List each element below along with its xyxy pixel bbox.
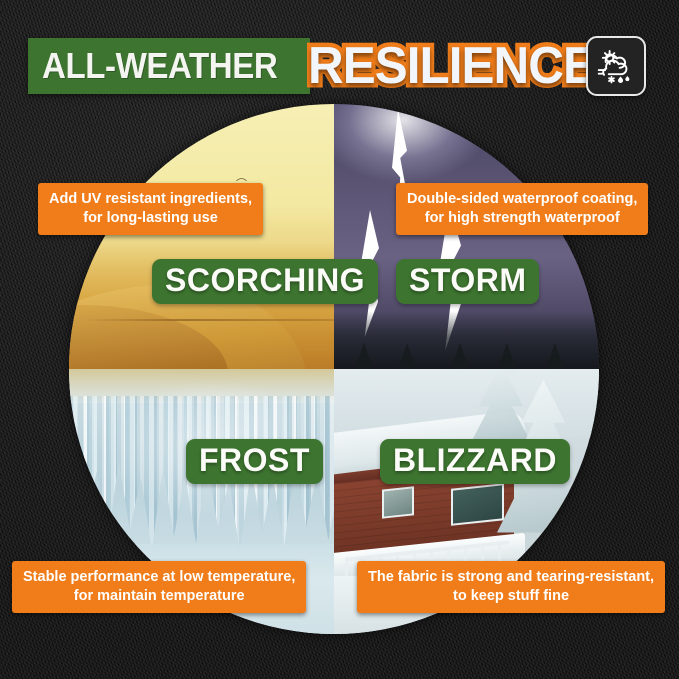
quadrant-scorching: ︵ — [69, 104, 334, 369]
quadrant-storm — [334, 104, 599, 369]
poster-canvas: ︵ — [0, 0, 679, 679]
callout-line-1: Double-sided waterproof coating, — [407, 191, 637, 207]
title-primary-text: ALL-WEATHER — [42, 45, 277, 87]
zone-label-blizzard: BLIZZARD — [380, 439, 570, 484]
title-primary-bar: ALL-WEATHER — [28, 38, 310, 94]
zone-label-scorching: SCORCHING — [152, 259, 378, 304]
desert-scene: ︵ — [69, 104, 334, 369]
title-secondary-text: RESILIENCE — [308, 36, 595, 96]
callout-line-1: Stable performance at low temperature, — [23, 569, 295, 585]
title-secondary-wrap: RESILIENCE — [308, 38, 616, 94]
callout-uv-resistant: Add UV resistant ingredients, for long-l… — [38, 183, 263, 235]
storm-scene — [334, 104, 599, 369]
callout-line-2: for maintain temperature — [23, 587, 295, 606]
callout-line-1: The fabric is strong and tearing-resista… — [368, 569, 654, 585]
storm-tree — [355, 343, 373, 369]
mixed-weather-icon — [586, 36, 646, 96]
callout-line-2: for high strength waterproof — [407, 209, 637, 228]
cabin-window — [451, 483, 504, 526]
bird-icon: ︵ — [236, 173, 252, 181]
zone-label-frost: FROST — [186, 439, 323, 484]
dune-ridge — [82, 319, 334, 321]
callout-low-temperature: Stable performance at low temperature, f… — [12, 561, 306, 613]
callout-line-2: for long-lasting use — [49, 209, 252, 228]
header-title-block: ALL-WEATHER RESILIENCE — [28, 38, 616, 94]
callout-line-1: Add UV resistant ingredients, — [49, 191, 252, 207]
storm-tree — [498, 343, 516, 369]
storm-tree — [546, 343, 564, 369]
callout-tear-resistant: The fabric is strong and tearing-resista… — [357, 561, 665, 613]
storm-tree — [398, 343, 416, 369]
callout-waterproof: Double-sided waterproof coating, for hig… — [396, 183, 648, 235]
storm-tree — [451, 343, 469, 369]
callout-line-2: to keep stuff fine — [368, 587, 654, 606]
cabin-window — [382, 487, 414, 519]
zone-label-storm: STORM — [396, 259, 539, 304]
